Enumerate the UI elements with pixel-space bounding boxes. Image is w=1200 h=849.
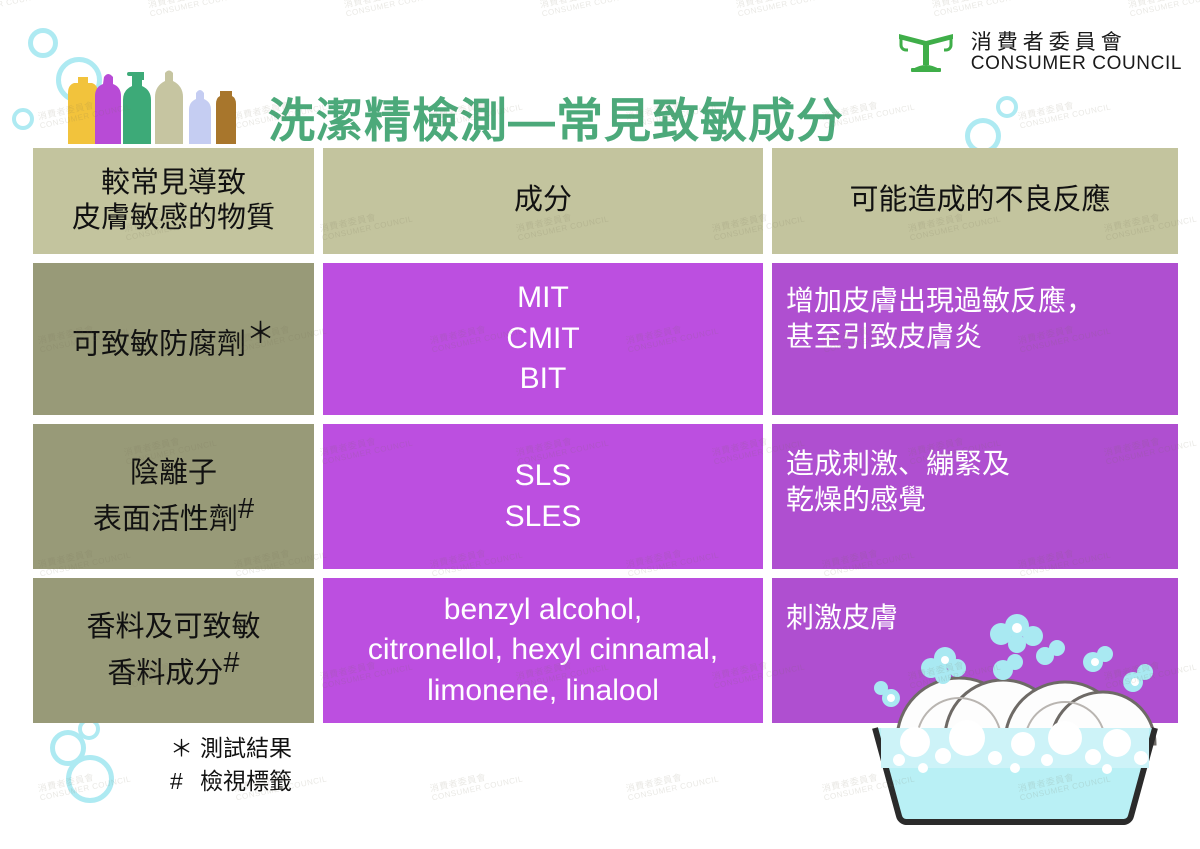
ingredients-text: SLSSLES (505, 456, 582, 537)
table-header-row: 較常見導致皮膚敏感的物質 成分 可能造成的不良反應 (33, 148, 1178, 254)
table-row: 可致敏防腐劑＊ MITCMITBIT 增加皮膚出現過敏反應，甚至引致皮膚炎 (33, 263, 1178, 415)
soap-bubble-icon (66, 755, 114, 803)
header-text-substance: 較常見導致皮膚敏感的物質 (72, 166, 275, 237)
balance-scale-icon (891, 24, 961, 81)
header-cell-ingredients: 成分 (323, 148, 763, 254)
logo-label-en: CONSUMER COUNCIL (971, 53, 1182, 74)
watermark-text: 消費者委員會CONSUMER COUNCIL (1017, 93, 1112, 131)
cell-substance: 陰離子表面活性劑# (33, 424, 314, 569)
watermark-text: 消費者委員會CONSUMER COUNCIL (0, 0, 46, 19)
footnote-text: 測試結果 (200, 735, 292, 761)
watermark-text: 消費者委員會CONSUMER COUNCIL (931, 0, 1026, 19)
logo-label-zh: 消費者委員會 (971, 31, 1127, 54)
footnote-mark: ＊ (170, 732, 200, 765)
cell-reaction: 造成刺激、繃緊及乾燥的感覺 (772, 424, 1178, 569)
watermark-text: 消費者委員會CONSUMER COUNCIL (429, 765, 524, 803)
consumer-council-logo: 消費者委員會 CONSUMER COUNCIL (891, 24, 1182, 81)
cell-ingredients: SLSSLES (323, 424, 763, 569)
watermark-text: 消費者委員會CONSUMER COUNCIL (1127, 0, 1200, 19)
cell-substance: 香料及可致敏香料成分# (33, 578, 314, 723)
header-cell-substance: 較常見導致皮膚敏感的物質 (33, 148, 314, 254)
substance-text: 香料及可致敏香料成分# (86, 609, 260, 692)
footnotes: ＊測試結果 #檢視標籤 (170, 732, 292, 797)
detergent-bottles-illustration (60, 55, 260, 155)
soap-bubble-icon (12, 108, 34, 130)
footnote-item: ＊測試結果 (170, 732, 292, 765)
footnote-text: 檢視標籤 (200, 768, 292, 794)
header-text-reaction: 可能造成的不良反應 (839, 183, 1110, 218)
cell-ingredients: benzyl alcohol,citronellol, hexyl cinnam… (323, 578, 763, 723)
reaction-text: 造成刺激、繃緊及乾燥的感覺 (772, 424, 1010, 519)
footnote-item: #檢視標籤 (170, 765, 292, 798)
page-title: 洗潔精檢測—常見致敏成分 (268, 82, 844, 151)
watermark-text: 消費者委員會CONSUMER COUNCIL (147, 0, 242, 19)
soap-bubble-icon (28, 28, 58, 58)
watermark-text: 消費者委員會CONSUMER COUNCIL (625, 765, 720, 803)
cell-substance: 可致敏防腐劑＊ (33, 263, 314, 415)
ingredients-text: MITCMITBIT (506, 278, 579, 400)
substance-text: 陰離子表面活性劑# (93, 455, 254, 538)
cell-ingredients: MITCMITBIT (323, 263, 763, 415)
watermark-text: 消費者委員會CONSUMER COUNCIL (343, 0, 438, 19)
table-row: 陰離子表面活性劑# SLSSLES 造成刺激、繃緊及乾燥的感覺 (33, 424, 1178, 569)
watermark-text: 消費者委員會CONSUMER COUNCIL (735, 0, 830, 19)
substance-text: 可致敏防腐劑＊ (72, 316, 275, 363)
reaction-text: 增加皮膚出現過敏反應，甚至引致皮膚炎 (772, 263, 1094, 356)
watermark-text: 消費者委員會CONSUMER COUNCIL (539, 0, 634, 19)
header-text-ingredients: 成分 (514, 183, 572, 218)
dish-basin-illustration (855, 610, 1175, 845)
header-cell-reaction: 可能造成的不良反應 (772, 148, 1178, 254)
cell-reaction: 增加皮膚出現過敏反應，甚至引致皮膚炎 (772, 263, 1178, 415)
soap-bubble-icon (996, 96, 1018, 118)
footnote-mark: # (170, 765, 200, 798)
ingredients-text: benzyl alcohol,citronellol, hexyl cinnam… (368, 590, 718, 712)
